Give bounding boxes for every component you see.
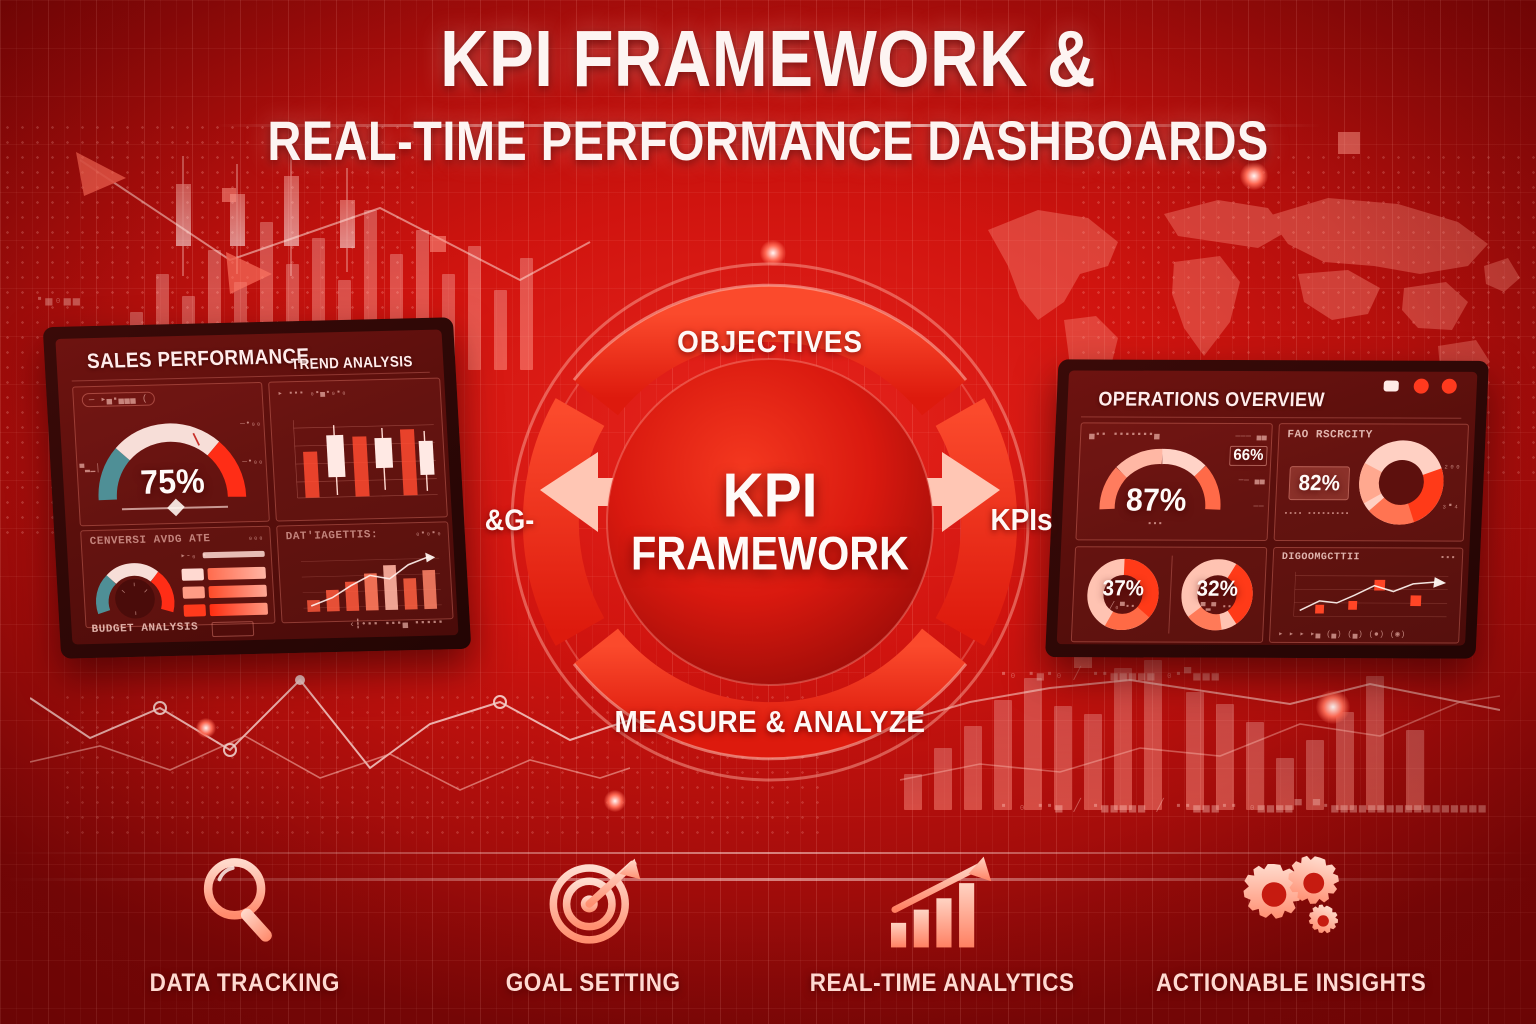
capacity-legend-garbled-1: ₂₀₀ xyxy=(1443,461,1461,471)
cycle-stage-left[interactable]: &G- xyxy=(485,504,535,538)
capacity-donut-panel: FAO RSCRCITY 82% ₂₀₀ ₃▪₄ ▪▪▪▪ ▪▪▪▪▪▪▪▪▪ xyxy=(1274,423,1470,542)
trend-analysis-panel: TREND ANALYSIS ▸ ▪▪▪ ₀▪▄▪₀▪₀ xyxy=(268,378,448,522)
left-monitor-footer-right-garbled: ‹┇•▪▪ ▪▪▪▄ ▪▪▪▪▪ xyxy=(349,617,444,629)
kpi-donut-1-value: 37% xyxy=(1086,575,1161,601)
capacity-donut-value: 82% xyxy=(1288,466,1350,500)
conversion-rate-corner-garbled: ₀₀₀ xyxy=(248,533,264,542)
ops-line-chart-panel: DIGOOMGCTTII ▪▪▪ ▸ ▸ ▸ ▸▄ (▄) (▄) xyxy=(1269,547,1464,644)
cycle-stage-measure-analyze[interactable]: MEASURE & ANALYZE xyxy=(500,704,1040,740)
cycle-center-label: KPI FRAMEWORK xyxy=(605,467,935,578)
ops-gauge-secondary-value: 66% xyxy=(1229,446,1268,466)
left-monitor-header: SALES PERFORMANCE xyxy=(86,345,310,374)
title-line-2: REAL-TIME PERFORMANCE DASHBOARDS xyxy=(123,112,1413,169)
conversion-donut-gauge xyxy=(90,551,178,625)
conversion-track-2 xyxy=(208,585,267,598)
kpi-donut-1-sublabel-garbled: ╱₀▀▪▪ xyxy=(1083,601,1162,611)
growth-bars-icon xyxy=(881,847,1005,955)
sales-gauge-title-garbled: — ▸▄▪▄▄▄ ( xyxy=(81,392,155,408)
conversion-track-0 xyxy=(203,551,265,559)
feature-label-data-tracking: DATA TRACKING xyxy=(149,969,339,998)
feature-label-goal-setting: GOAL SETTING xyxy=(506,969,681,998)
ops-line-chart-title-garbled: DIGOOMGCTTII xyxy=(1282,552,1361,563)
infographic-canvas: ▪₀ ▪▄▪₀ ╱ ▪▪▄▄▄▄▄ ₀▪▀▄▄▄ ▪ ₀ ▪▪▄ ╱ ▪▄▄▄▄… xyxy=(0,0,1536,1024)
cycle-stage-kpis[interactable]: KPIs xyxy=(991,502,1053,538)
ops-gauge-sub-garbled: ▪▪▪ xyxy=(1087,519,1224,528)
feature-real-time-analytics[interactable]: REAL-TIME ANALYTICS xyxy=(808,847,1078,998)
gears-icon xyxy=(1230,847,1354,955)
page-title: KPI FRAMEWORK & REAL-TIME PERFORMANCE DA… xyxy=(0,18,1536,169)
ops-gauge-side-garbled-2: —— ▄▄ xyxy=(1239,476,1266,485)
trend-analysis-subtitle-garbled: ▸ ▪▪▪ ₀▪▄▪₀▪₀ xyxy=(277,387,347,399)
feature-label-actionable-insights: ACTIONABLE INSIGHTS xyxy=(1156,969,1426,998)
sales-gauge-panel: — ▸▄▪▄▄▄ ( 75% —•₀₀ —•₀₀ ▀▂▁│ xyxy=(72,382,270,526)
conversion-track-1 xyxy=(207,567,266,580)
kpi-donuts-panel: 37% ╱₀▀▪▪ 32% ▀▂▀ ▪▪ xyxy=(1071,546,1268,643)
minimize-button[interactable] xyxy=(1383,381,1399,392)
feature-goal-setting[interactable]: GOAL SETTING xyxy=(459,847,729,998)
right-monitor-header: OPERATIONS OVERVIEW xyxy=(1098,389,1325,413)
ops-line-chart-toolbar-garbled: ▸ ▸ ▸ ▸▄ (▄) (▄) (●) (◉) xyxy=(1278,629,1406,639)
targets-chart xyxy=(284,544,448,620)
kpi-donut-2-value: 32% xyxy=(1180,576,1255,602)
conversion-chip-2 xyxy=(182,586,205,599)
budget-analysis-label: BUDGET ANALYSIS xyxy=(91,621,198,636)
conversion-track-3 xyxy=(209,603,268,616)
capacity-legend-garbled-2: ₃▪₄ xyxy=(1441,501,1459,511)
feature-data-tracking[interactable]: DATA TRACKING xyxy=(110,847,380,998)
ops-gauge-panel: ▄▪▪ ▪▪▪▪▪▪▪▄ 87% ▪▪▪ ——— ▄▄ 66% —— ▄▄ —— xyxy=(1075,422,1273,541)
sales-gauge-left-tag: ▀▂▁│ xyxy=(79,463,101,474)
targets-corner-garbled: ₀▪₀▪₀ xyxy=(415,528,442,538)
capacity-footnote-garbled: ▪▪▪▪ ▪▪▪▪▪▪▪▪▪ xyxy=(1284,510,1350,518)
targets-title-garbled: DAT'IAGETTIS: xyxy=(285,529,378,543)
sales-gauge-side-label-1: —•₀₀ xyxy=(240,419,262,429)
ops-line-chart-corner-garbled: ▪▪▪ xyxy=(1440,554,1456,563)
ops-gauge-side-garbled-3: —— xyxy=(1253,502,1264,511)
ops-line-chart xyxy=(1277,566,1456,625)
conversion-rate-title-garbled: CENVERSI AVDG ATE xyxy=(89,533,210,548)
right-monitor: OPERATIONS OVERVIEW ▄▪▪ ▪▪▪▪▪▪▪▄ 87% ▪▪▪… xyxy=(1045,359,1489,658)
target-arrow-icon xyxy=(542,847,646,955)
ops-gauge-title-garbled: ▄▪▪ ▪▪▪▪▪▪▪▄ xyxy=(1089,429,1160,439)
targets-panel: DAT'IAGETTIS: ₀▪₀▪₀ xyxy=(276,521,454,623)
close-button[interactable] xyxy=(1441,379,1457,394)
left-monitor-screen: SALES PERFORMANCE — ▸▄▪▄▄▄ ( 75% —•₀₀ —•… xyxy=(55,330,458,645)
kpi-cycle-diagram: OBJECTIVES KPIs MEASURE & ANALYZE &G- KP… xyxy=(470,252,1070,792)
cycle-stage-objectives[interactable]: OBJECTIVES xyxy=(500,324,1040,360)
feature-row: DATA TRACKING GOAL SETTING xyxy=(0,808,1536,998)
feature-label-real-time-analytics: REAL-TIME ANALYTICS xyxy=(810,969,1075,998)
title-line-1: KPI FRAMEWORK & xyxy=(123,18,1413,100)
trend-analysis-title: TREND ANALYSIS xyxy=(290,353,413,373)
left-monitor: SALES PERFORMANCE — ▸▄▪▄▄▄ ( 75% —•₀₀ —•… xyxy=(43,317,472,659)
right-monitor-screen: OPERATIONS OVERVIEW ▄▪▪ ▪▪▪▪▪▪▪▄ 87% ▪▪▪… xyxy=(1057,370,1478,645)
cycle-center-line-2: FRAMEWORK xyxy=(625,528,915,577)
ops-gauge-value: 87% xyxy=(1091,481,1221,518)
sales-gauge-side-label-2: —•₀₀ xyxy=(242,457,264,467)
cycle-center-line-1: KPI xyxy=(618,467,922,527)
capacity-donut-chart xyxy=(1355,438,1447,526)
kpi-donut-2-sublabel-garbled: ▀▂▀ ▪▪ xyxy=(1177,602,1256,612)
magnifier-icon xyxy=(193,847,297,955)
sales-gauge-value: 75% xyxy=(83,461,262,504)
conversion-rate-panel: CENVERSI AVDG ATE ₀₀₀ ▸-₀ ▪ xyxy=(80,526,276,628)
trend-analysis-chart xyxy=(276,401,442,513)
feature-actionable-insights[interactable]: ACTIONABLE INSIGHTS xyxy=(1157,847,1427,998)
ops-gauge-side-garbled-1: ——— ▄▄ xyxy=(1235,432,1267,441)
conversion-chip-1 xyxy=(181,568,204,581)
conversion-chip-3 xyxy=(183,604,206,617)
maximize-button[interactable] xyxy=(1413,379,1429,394)
